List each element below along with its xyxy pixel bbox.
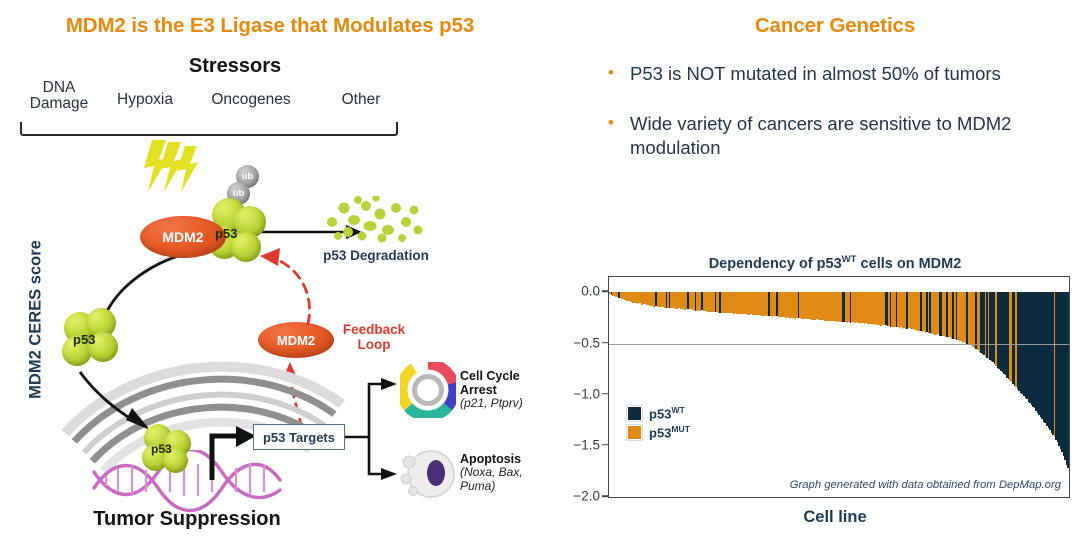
outcome-cell-cycle-title-line1: Cell Cycle xyxy=(460,369,555,383)
legend-item-wt: p53WT xyxy=(627,405,690,421)
y-axis-tick-mark xyxy=(602,444,608,446)
p53-targets-label: p53 Targets xyxy=(263,430,335,445)
slide-canvas: MDM2 is the E3 Ligase that Modulates p53… xyxy=(0,0,1080,553)
outcome-cell-cycle: Cell Cycle Arrest (p21, Ptprv) xyxy=(460,369,555,411)
y-axis-title: MDM2 CERES score xyxy=(27,215,46,425)
chart-title-sup: WT xyxy=(842,254,857,265)
bullet-list: • P53 is NOT mutated in almost 50% of tu… xyxy=(608,62,1058,186)
lightning-bolt-icon xyxy=(140,140,204,192)
y-axis-tick-mark xyxy=(602,393,608,395)
feedback-loop-label: Feedback Loop xyxy=(334,322,414,352)
stressor-oncogenes: Oncogenes xyxy=(198,92,304,108)
outcome-apoptosis-title: Apoptosis xyxy=(460,452,556,466)
stressor-other: Other xyxy=(322,92,400,108)
apoptotic-cell-icon xyxy=(400,446,456,502)
legend-swatch-mut xyxy=(627,425,642,440)
p53-targets-box[interactable]: p53 Targets xyxy=(253,424,345,450)
y-axis-tick-mark xyxy=(602,291,608,293)
tumor-suppression-footer: Tumor Suppression xyxy=(22,508,352,531)
stressors-bracket xyxy=(20,122,398,136)
chart-source-note: Graph generated with data obtained from … xyxy=(790,479,1061,491)
y-axis-tick-label: −2.0 xyxy=(558,489,600,504)
bullet-text-2: Wide variety of cancers are sensitive to… xyxy=(630,112,1058,161)
branch-connector-outcomes xyxy=(345,370,405,488)
stressor-dna-damage-line2: Damage xyxy=(18,96,100,112)
left-panel-title: MDM2 is the E3 Ligase that Modulates p53 xyxy=(0,14,540,38)
bullet-marker-icon: • xyxy=(608,112,630,161)
y-axis-tick-label: −0.5 xyxy=(558,335,600,350)
chart-legend: p53WT p53MUT xyxy=(627,405,690,444)
y-axis-tick-mark xyxy=(602,342,608,344)
feedback-loop-line2: Loop xyxy=(334,337,414,352)
chart-plot-area: p53WT p53MUT Graph generated with data o… xyxy=(608,276,1070,498)
bullet-text-1: P53 is NOT mutated in almost 50% of tumo… xyxy=(630,62,1001,87)
legend-swatch-wt xyxy=(627,406,642,421)
p53-degradation-fragments-icon xyxy=(318,196,434,244)
arrow-p53-into-nucleus xyxy=(74,368,158,438)
x-axis-title: Cell line xyxy=(600,508,1070,527)
chart-gridline xyxy=(609,344,1069,345)
chart-title: Dependency of p53WT cells on MDM2 xyxy=(600,254,1070,272)
ubiquitin-label-2: ub xyxy=(233,188,245,199)
chart-title-before: Dependency of p53 xyxy=(709,256,842,272)
y-axis-tick-mark xyxy=(602,495,608,497)
stressor-dna-damage-line1: DNA xyxy=(18,80,100,96)
arrow-dna-to-targets xyxy=(206,420,260,482)
feedback-arrow-upper xyxy=(250,244,326,330)
list-item: • Wide variety of cancers are sensitive … xyxy=(608,112,1058,161)
outcome-apoptosis-genes-line1: (Noxa, Bax, xyxy=(460,466,556,480)
bullet-marker-icon: • xyxy=(608,62,630,87)
legend-label-mut: p53MUT xyxy=(649,424,690,440)
list-item: • P53 is NOT mutated in almost 50% of tu… xyxy=(608,62,1058,87)
feedback-loop-line1: Feedback xyxy=(334,322,414,337)
mdm2-complex-oval: MDM2 xyxy=(140,216,226,258)
legend-label-wt: p53WT xyxy=(649,405,685,421)
legend-item-mut: p53MUT xyxy=(627,424,690,440)
mdm2-complex-label: MDM2 xyxy=(162,229,203,245)
right-panel-title: Cancer Genetics xyxy=(600,14,1070,38)
chart-bar xyxy=(1067,292,1069,468)
y-axis-tick-label: −1.0 xyxy=(558,386,600,401)
mdm2-feedback-label: MDM2 xyxy=(277,333,315,348)
stressors-heading: Stressors xyxy=(0,55,470,78)
stressor-dna-damage: DNA Damage xyxy=(18,80,100,113)
y-axis-tick-label: −1.5 xyxy=(558,437,600,452)
chart-title-after: cells on MDM2 xyxy=(857,256,962,272)
y-axis-tick-label: 0.0 xyxy=(558,284,600,299)
cell-cycle-icon xyxy=(400,362,456,418)
stressor-hypoxia: Hypoxia xyxy=(102,92,188,108)
outcome-cell-cycle-title-line2: Arrest xyxy=(460,383,555,397)
outcome-cell-cycle-genes: (p21, Ptprv) xyxy=(460,397,555,411)
outcome-apoptosis: Apoptosis (Noxa, Bax, Puma) xyxy=(460,452,556,494)
outcome-apoptosis-genes-line2: Puma) xyxy=(460,480,556,494)
ubiquitin-label-1: ub xyxy=(242,171,254,182)
